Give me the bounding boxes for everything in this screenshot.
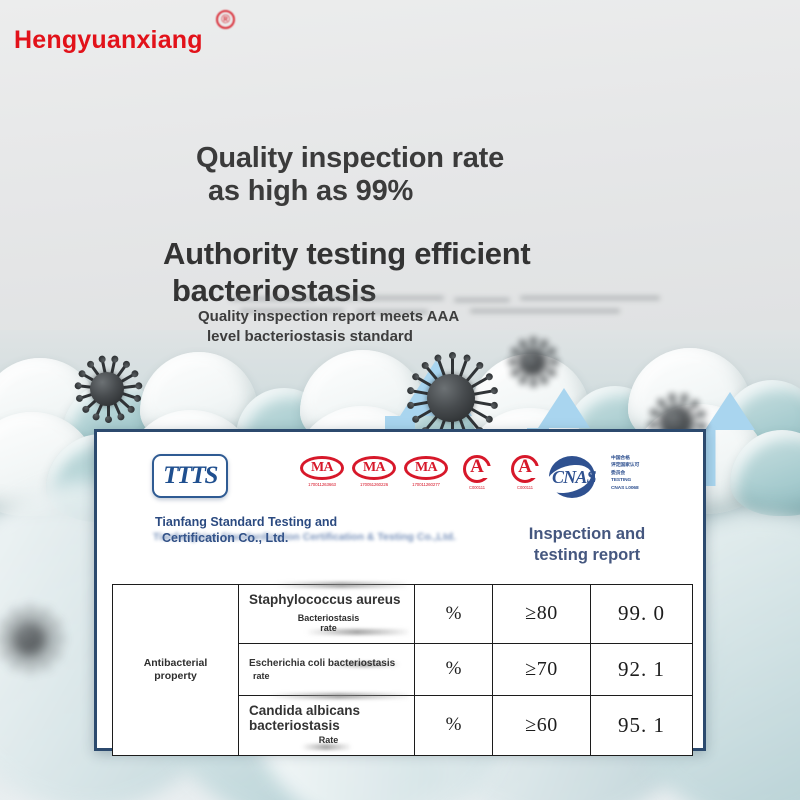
cal-label: A [463,456,491,478]
standard-cell: ≥80 [493,585,591,644]
company-name-blurred-original: Tianfangbiao Standardization Certificati… [153,531,483,543]
cma-number: 170011263663 [299,482,345,487]
cnas-cn-line-3: 委员会 [611,470,647,477]
test-item-cell: Staphylococcus aureus Bacteriostasis rat… [239,585,415,644]
registered-trademark-icon: ® [216,10,235,29]
test-item-name: Staphylococcus aureus [249,592,408,607]
cnas-testing-label: TESTING [611,477,647,484]
cma-mark-icon: MA 170011260277 [404,456,448,487]
headline-line-2: as high as 99% [0,175,800,208]
unit-value: % [446,714,462,735]
result-cell: 95. 1 [591,696,693,756]
subtitle-line-1: Quality inspection report meets AAA [0,307,800,327]
headline-line-1: Quality inspection rate [0,142,800,175]
cnas-logo-icon: CNAS 中国合格 评定国家认可 委员会 TESTING CNAS L0068 [549,454,645,500]
cnas-registration-number: CNAS L0068 [611,485,647,492]
cal-number: C000111 [505,485,546,490]
cma-label: MA [404,459,448,476]
standard-cell: ≥60 [493,696,591,756]
certification-logos-row: TTTS MA 170011263663 MA 170051260226 MA … [97,454,709,506]
test-item-name: Candida albicans bacteriostasis [249,703,408,733]
cnas-label: CNAS [552,467,614,488]
inspection-report-card: TTTS MA 170011263663 MA 170051260226 MA … [94,429,706,751]
subtitle-block: Quality inspection report meets AAA leve… [0,307,800,348]
standard-value: ≥70 [525,658,557,680]
testing-company-name: Tianfang Standard Testing and Certificat… [155,514,485,546]
inspection-results-table: Antibacterial property Staphylococcus au… [112,584,693,756]
ttts-logo-icon: TTTS [152,454,228,498]
cma-number: 170011260277 [403,482,449,487]
standard-value: ≥80 [525,602,557,624]
test-item-subtitle: Rate [249,735,408,745]
cal-number: C000111 [457,485,498,490]
headline-block: Quality inspection rate as high as 99% A… [0,142,800,309]
test-item-name: Escherichia coli bacteriostasis [249,658,408,670]
ttts-logo-text: TTTS [154,456,226,495]
property-category-label: Antibacterial property [113,657,238,683]
cma-label: MA [300,459,344,476]
cal-mark-icon: A C000111 [505,455,545,490]
standard-value: ≥60 [525,714,557,736]
table-row: Antibacterial property Staphylococcus au… [113,585,693,644]
cal-mark-icon: A C000111 [457,455,497,490]
result-value: 99. 0 [618,601,665,625]
report-title: Inspection and testing report [487,524,687,567]
virus-particle [0,610,58,668]
cnas-cn-line-1: 中国合格 [611,455,647,462]
cma-mark-icon: MA 170011263663 [300,456,344,487]
company-name-line-1: Tianfang Standard Testing and [155,514,485,530]
result-value: 95. 1 [618,713,665,737]
subtitle-line-2: level bacteriostasis standard [0,327,800,347]
headline-line-3: Authority testing efficient [0,235,800,272]
virus-particle [76,358,138,420]
unit-cell: % [415,585,493,644]
standard-cell: ≥70 [493,643,591,695]
cma-number: 170051260226 [351,482,397,487]
cal-label: A [511,456,539,478]
test-item-subtitle: rate [249,671,408,681]
cma-mark-icon: MA 170051260226 [352,456,396,487]
cnas-cn-line-2: 评定国家认可 [611,462,647,469]
unit-cell: % [415,643,493,695]
unit-value: % [446,658,462,679]
brand-name: Hengyuanxiang [14,26,203,55]
unit-cell: % [415,696,493,756]
unit-value: % [446,603,462,624]
result-cell: 99. 0 [591,585,693,644]
result-cell: 92. 1 [591,643,693,695]
cnas-accreditation-text: 中国合格 评定国家认可 委员会 TESTING CNAS L0068 [611,455,647,492]
test-item-cell: Candida albicans bacteriostasis Rate [239,696,415,756]
brand-logo: Hengyuanxiang ® [14,26,203,55]
cma-label: MA [352,459,396,476]
property-category-cell: Antibacterial property [113,585,239,756]
test-item-subtitle: Bacteriostasis rate [249,613,408,634]
result-value: 92. 1 [618,657,665,681]
test-item-cell: Escherichia coli bacteriostasis rate [239,643,415,695]
